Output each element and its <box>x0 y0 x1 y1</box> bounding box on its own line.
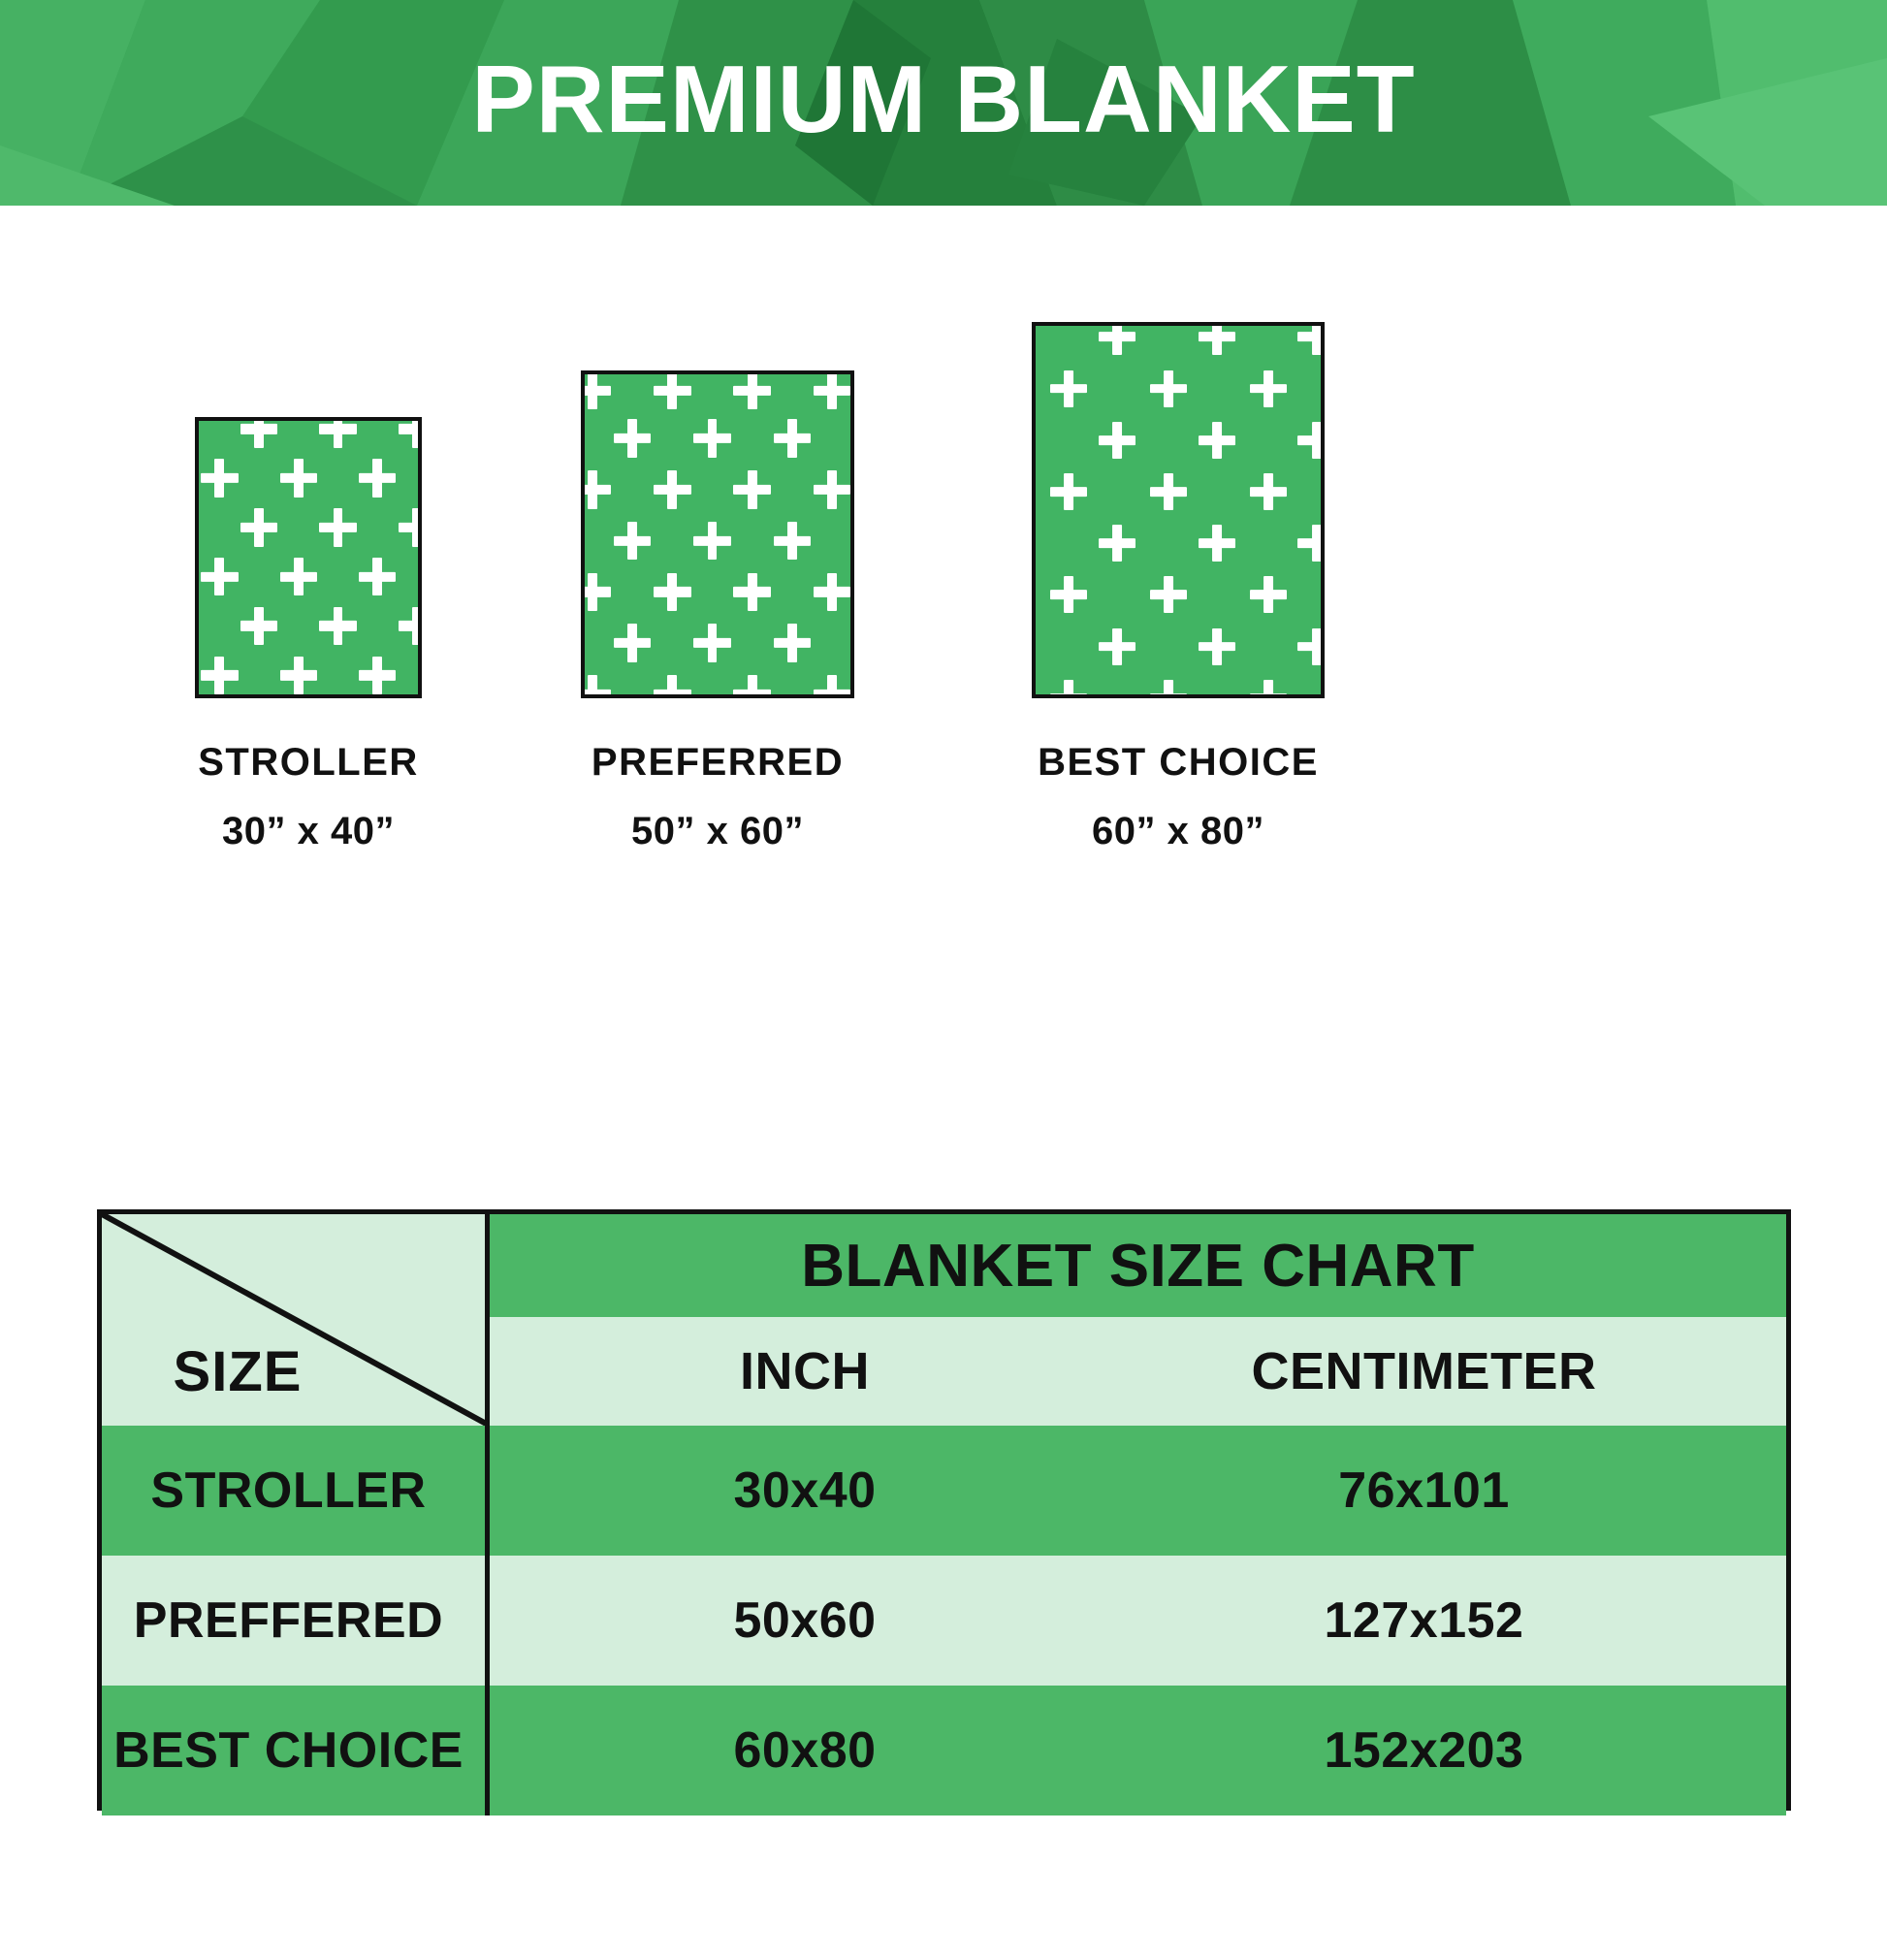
plus-icon <box>399 508 422 546</box>
plus-icon <box>1199 422 1235 459</box>
plus-icon <box>280 558 317 595</box>
row-inch-value: 30x40 <box>490 1426 1149 1556</box>
plus-icon <box>280 657 317 694</box>
table-title: BLANKET SIZE CHART <box>490 1214 1786 1317</box>
plus-icon <box>814 470 850 509</box>
plus-icon <box>1050 576 1087 613</box>
plus-icon <box>581 573 611 612</box>
swatch-dimensions: 50” x 60” <box>461 810 975 853</box>
row-size-label: PREFFERED <box>102 1556 490 1686</box>
plus-icon <box>733 470 770 509</box>
table-row: PREFFERED 50x60 127x152 <box>102 1556 1786 1686</box>
swatch-group-best-choice: BEST CHOICE 60” x 80” <box>921 322 1435 853</box>
blanket-swatch-icon-best-choice <box>1032 322 1325 698</box>
plus-icon <box>399 417 422 448</box>
plus-icon <box>359 657 396 694</box>
plus-icon <box>201 657 238 694</box>
swatch-dimensions: 60” x 80” <box>921 810 1435 853</box>
plus-icon <box>814 675 850 698</box>
plus-icon <box>774 624 811 662</box>
plus-icon <box>774 419 811 458</box>
plus-pattern <box>199 421 418 694</box>
plus-icon <box>1297 322 1325 355</box>
swatch-group-preferred: PREFERRED 50” x 60” <box>461 370 975 853</box>
column-header-inch: INCH <box>490 1317 1149 1426</box>
column-header-centimeter: CENTIMETER <box>1149 1317 1786 1426</box>
plus-icon <box>654 371 690 410</box>
plus-pattern <box>585 374 850 694</box>
corner-cell-blank <box>102 1214 490 1317</box>
plus-icon <box>240 508 277 546</box>
row-centimeter-value: 127x152 <box>1149 1556 1786 1686</box>
blanket-size-chart-table: BLANKET SIZE CHART INCH CENTIMETER STROL… <box>97 1209 1791 1811</box>
table-row: BEST CHOICE 60x80 152x203 <box>102 1686 1786 1815</box>
plus-pattern <box>1036 326 1321 694</box>
plus-icon <box>1199 628 1235 665</box>
plus-icon <box>359 459 396 497</box>
plus-icon <box>319 417 356 448</box>
plus-icon <box>1297 422 1325 459</box>
plus-icon <box>581 470 611 509</box>
plus-icon <box>1297 525 1325 562</box>
swatch-label: BEST CHOICE <box>921 741 1435 785</box>
plus-icon <box>201 459 238 497</box>
plus-icon <box>733 573 770 612</box>
swatch-label: PREFERRED <box>461 741 975 785</box>
header-banner: PREMIUM BLANKET <box>0 0 1887 206</box>
plus-icon <box>814 371 850 410</box>
plus-icon <box>1099 628 1135 665</box>
plus-icon <box>1250 370 1287 407</box>
corner-label-size: SIZE <box>102 1317 490 1426</box>
plus-icon <box>581 675 611 698</box>
table-title-row: BLANKET SIZE CHART <box>102 1214 1786 1317</box>
plus-icon <box>1099 525 1135 562</box>
plus-icon <box>733 675 770 698</box>
blanket-swatch-icon-preferred <box>581 370 854 698</box>
plus-icon <box>1099 422 1135 459</box>
plus-icon <box>1150 473 1187 510</box>
row-inch-value: 60x80 <box>490 1686 1149 1815</box>
blanket-swatch-icon-stroller <box>195 417 422 698</box>
plus-icon <box>319 508 356 546</box>
plus-icon <box>1150 680 1187 698</box>
plus-icon <box>319 607 356 645</box>
plus-icon <box>614 522 651 561</box>
plus-icon <box>733 371 770 410</box>
plus-icon <box>614 419 651 458</box>
plus-icon <box>1050 370 1087 407</box>
plus-icon <box>1199 322 1235 355</box>
plus-icon <box>1297 628 1325 665</box>
plus-icon <box>654 675 690 698</box>
table-row: STROLLER 30x40 76x101 <box>102 1426 1786 1556</box>
plus-icon <box>1199 525 1235 562</box>
plus-icon <box>814 573 850 612</box>
page-title: PREMIUM BLANKET <box>0 0 1887 206</box>
plus-icon <box>853 522 854 561</box>
plus-icon <box>853 624 854 662</box>
plus-icon <box>693 419 730 458</box>
plus-icon <box>774 522 811 561</box>
plus-icon <box>1050 680 1087 698</box>
row-size-label: STROLLER <box>102 1426 490 1556</box>
row-size-label: BEST CHOICE <box>102 1686 490 1815</box>
row-inch-value: 50x60 <box>490 1556 1149 1686</box>
plus-icon <box>359 558 396 595</box>
plus-icon <box>1099 322 1135 355</box>
plus-icon <box>654 470 690 509</box>
plus-icon <box>240 607 277 645</box>
plus-icon <box>581 371 611 410</box>
plus-icon <box>1250 680 1287 698</box>
plus-icon <box>240 417 277 448</box>
plus-icon <box>1150 576 1187 613</box>
plus-icon <box>1250 473 1287 510</box>
plus-icon <box>693 522 730 561</box>
plus-icon <box>654 573 690 612</box>
plus-icon <box>1250 576 1287 613</box>
row-centimeter-value: 76x101 <box>1149 1426 1786 1556</box>
plus-icon <box>399 607 422 645</box>
plus-icon <box>693 624 730 662</box>
plus-icon <box>1150 370 1187 407</box>
plus-icon <box>280 459 317 497</box>
plus-icon <box>201 558 238 595</box>
blanket-size-illustrations: STROLLER 30” x 40” <box>0 206 1887 1175</box>
plus-icon <box>614 624 651 662</box>
plus-icon <box>1050 473 1087 510</box>
plus-icon <box>853 419 854 458</box>
row-centimeter-value: 152x203 <box>1149 1686 1786 1815</box>
